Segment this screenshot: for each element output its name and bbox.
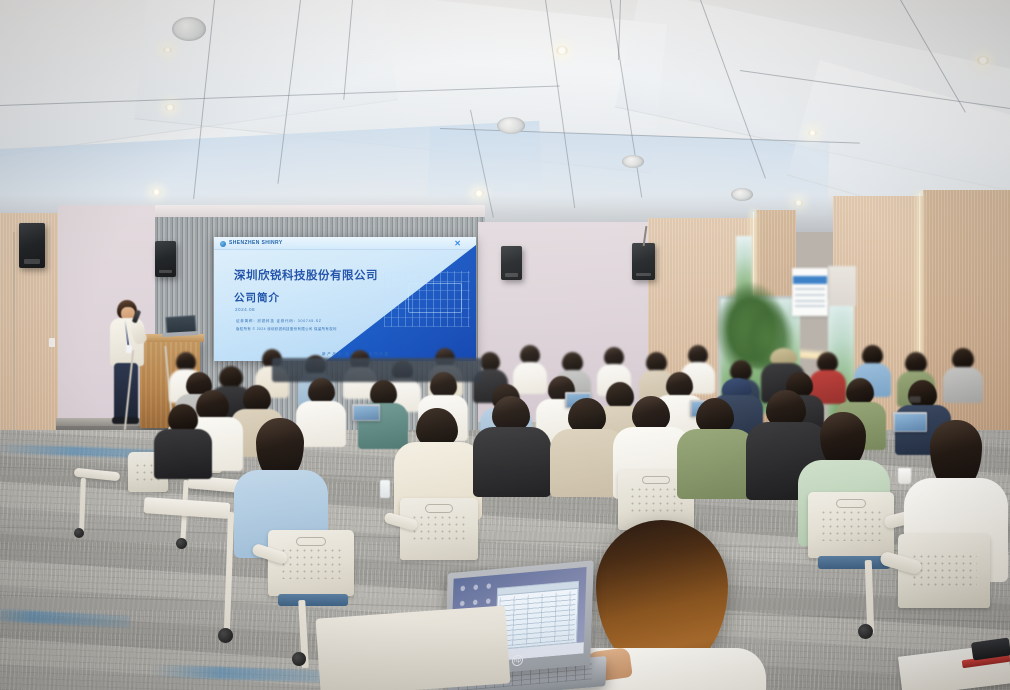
attendee-back-8: [480, 352, 500, 371]
slide-date: 2024.08: [235, 307, 255, 312]
attendee-mid-13: [908, 380, 937, 408]
attendee-cream-far-right: [930, 420, 982, 490]
attendee-mid-10-cap: [722, 378, 752, 397]
chair-caster-left-2: [74, 528, 84, 538]
attendee-blue-shirt-woman: [256, 418, 304, 480]
chair-caster-left-1: [176, 538, 187, 549]
attendee-back-15-cap: [770, 348, 797, 365]
attendee-back-16: [817, 352, 838, 372]
attendee-beige-center: [568, 398, 606, 434]
wall-speaker-right: [632, 243, 655, 280]
company-logo-icon: [220, 241, 226, 247]
wall-speaker-stage-left: [155, 241, 176, 277]
attendee-front-left-1: [196, 390, 229, 421]
attendee-cream-center: [416, 408, 458, 448]
light-switch[interactable]: [49, 338, 55, 347]
attendee-mid-8: [606, 382, 634, 409]
slide-device-outline: [408, 283, 462, 313]
attendee-back-19: [952, 348, 974, 369]
attendee-back-17: [862, 345, 883, 365]
attendee-back-2: [219, 366, 243, 388]
attendee-mint-right: [820, 412, 866, 468]
wall-speaker-center: [501, 246, 522, 280]
attendee-black-right: [766, 390, 806, 428]
meeting-room-photo: SHENZHEN SHINRY ✕ 深圳欣锐科技股份有限公司 公司简介 2024…: [0, 0, 1010, 690]
company-logo-text: SHENZHEN SHINRY: [229, 240, 283, 246]
slide-title: 深圳欣锐科技股份有限公司: [234, 267, 378, 283]
caster-blue-woman-2: [218, 628, 233, 643]
slide-fine-line-1: 证券简称：欣锐科技 证券代码：300745.SZ: [236, 319, 322, 324]
attendee-mid-4: [370, 380, 397, 406]
attendee-laptop-4: [893, 412, 927, 432]
slide-fine-line-2: 版权所有 © 2024 深圳欣锐科技股份有限公司 保留所有权利: [236, 326, 337, 331]
chair-seat-blue-2: [818, 556, 890, 569]
attendee-black-center: [492, 396, 530, 432]
wall-poster: [792, 268, 828, 316]
foreground-desk-surface: [316, 605, 511, 690]
attendee-mid-5: [430, 372, 457, 398]
attendee-back-13: [688, 345, 708, 364]
stage-header-band: [155, 205, 485, 217]
spreadsheet-grid[interactable]: [498, 591, 576, 647]
attendee-back-18: [905, 352, 927, 373]
attendee-back-11: [604, 347, 624, 366]
presentation-slide: SHENZHEN SHINRY ✕ 深圳欣锐科技股份有限公司 公司简介 2024…: [214, 237, 476, 361]
slide-corner-mark: ✕: [454, 239, 460, 248]
water-bottle[interactable]: [380, 480, 390, 498]
wall-speaker-left: [19, 223, 45, 268]
attendee-back-1: [176, 352, 196, 371]
attendee-mid-2: [243, 385, 271, 412]
poster-header-band: [793, 276, 826, 285]
slide-subtitle: 公司简介: [234, 290, 280, 305]
paper-cup[interactable]: [898, 468, 911, 484]
attendee-foreground-auburn: [596, 520, 728, 670]
attendee-back-9: [520, 345, 540, 364]
attendee-mid-9: [666, 372, 693, 398]
chair-seat-blue-1: [278, 594, 348, 606]
attendee-back-10: [562, 352, 583, 372]
window-blind: [828, 266, 856, 306]
attendee-mid-12: [846, 378, 874, 405]
attendee-mid-3: [308, 378, 335, 404]
chair-mint-right[interactable]: [808, 492, 894, 558]
attendee-white-center: [632, 396, 670, 432]
attendee-olive-right: [696, 398, 734, 434]
attendee-laptop-1: [352, 404, 380, 421]
caster-mint: [858, 624, 873, 639]
attendee-front-left-2: [168, 404, 198, 433]
projection-screen: SHENZHEN SHINRY ✕ 深圳欣锐科技股份有限公司 公司简介 2024…: [214, 237, 476, 361]
spreadsheet-window[interactable]: [495, 581, 579, 650]
chair-caster-blue-woman: [292, 652, 306, 666]
attendee-back-12: [646, 352, 667, 372]
